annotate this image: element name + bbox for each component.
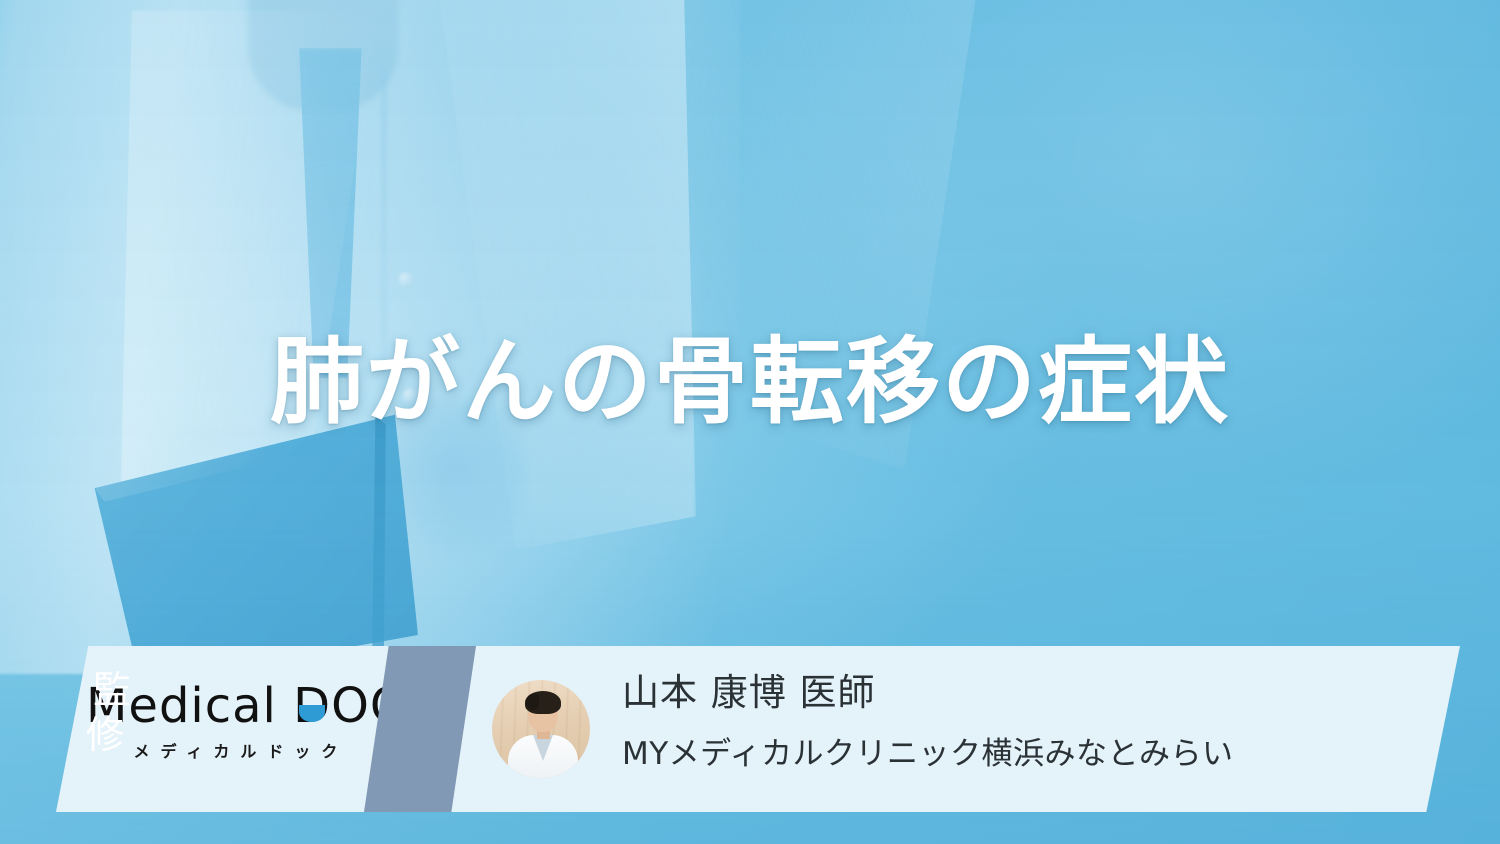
slide-root: 肺がんの骨転移の症状 Medical DOC メディカルドック 監 修 山本 康 [0, 0, 1500, 844]
supervisor-clinic: MYメディカルクリニック横浜みなとみらい [622, 739, 1234, 770]
avatar [492, 680, 590, 778]
credit-bar: Medical DOC メディカルドック 監 修 山本 康博 医師 MYメディカ… [56, 646, 1460, 812]
avatar-hair-fringe [526, 694, 539, 710]
title-container: 肺がんの骨転移の症状 [0, 336, 1500, 430]
supervisor-name: 山本 康博 医師 [622, 674, 876, 711]
supervise-badge [364, 646, 476, 812]
page-title: 肺がんの骨転移の症状 [270, 336, 1230, 430]
